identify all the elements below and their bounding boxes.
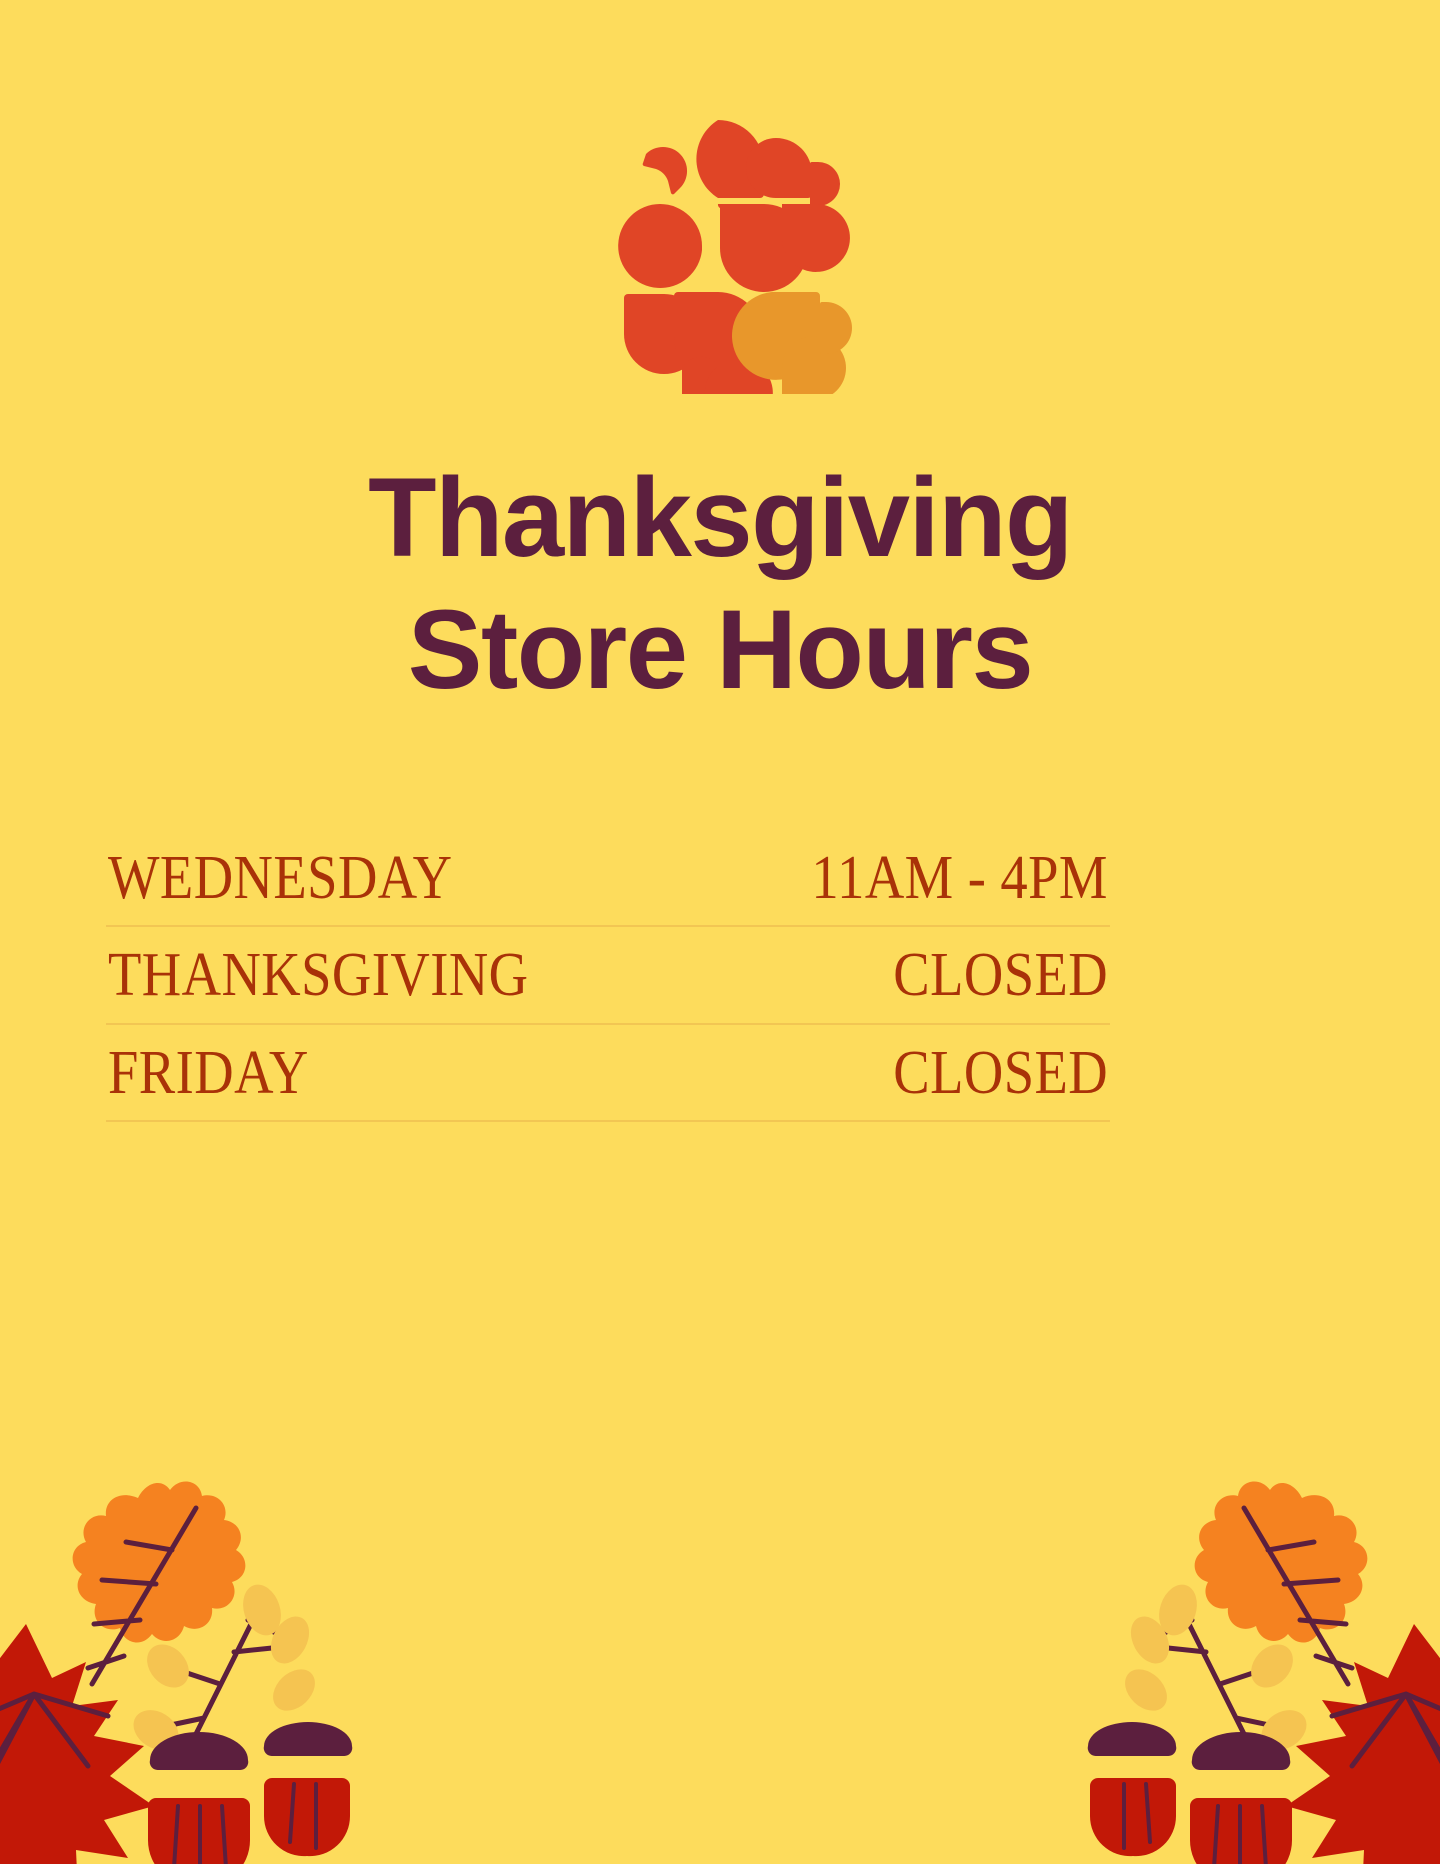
poster-canvas: Thanksgiving Store Hours WEDNESDAY 11AM … [0,0,1440,1864]
flower-rosette-logo [586,112,854,394]
table-row: THANKSGIVING CLOSED [106,927,1110,1024]
hours-day-label: THANKSGIVING [108,941,529,1010]
oak-leaf-icon [73,1481,246,1684]
berry-sprig-icon [1117,1580,1314,1758]
title-line-1: Thanksgiving [0,452,1440,584]
berry-sprig-icon [126,1580,323,1758]
hours-time-value: CLOSED [893,941,1108,1010]
store-hours-table: WEDNESDAY 11AM - 4PM THANKSGIVING CLOSED… [106,830,1110,1122]
table-row: FRIDAY CLOSED [106,1025,1110,1122]
hours-time-value: 11AM - 4PM [812,844,1108,913]
hours-day-label: WEDNESDAY [108,844,452,913]
hours-time-value: CLOSED [893,1039,1108,1108]
title-line-2: Store Hours [0,584,1440,716]
autumn-leaves-acorns-bottom-left-icon [0,1434,362,1864]
autumn-leaves-acorns-bottom-right-icon [1078,1434,1440,1864]
page-title: Thanksgiving Store Hours [0,452,1440,716]
logo-container [0,112,1440,394]
acorn-icon [148,1732,250,1864]
acorn-icon [1190,1732,1292,1864]
maple-leaf-icon [1286,1624,1440,1864]
acorn-icon [1088,1722,1177,1856]
acorn-icon [264,1722,353,1856]
maple-leaf-icon [0,1624,154,1864]
table-row: WEDNESDAY 11AM - 4PM [106,830,1110,927]
hours-day-label: FRIDAY [108,1039,309,1108]
oak-leaf-icon [1195,1481,1368,1684]
